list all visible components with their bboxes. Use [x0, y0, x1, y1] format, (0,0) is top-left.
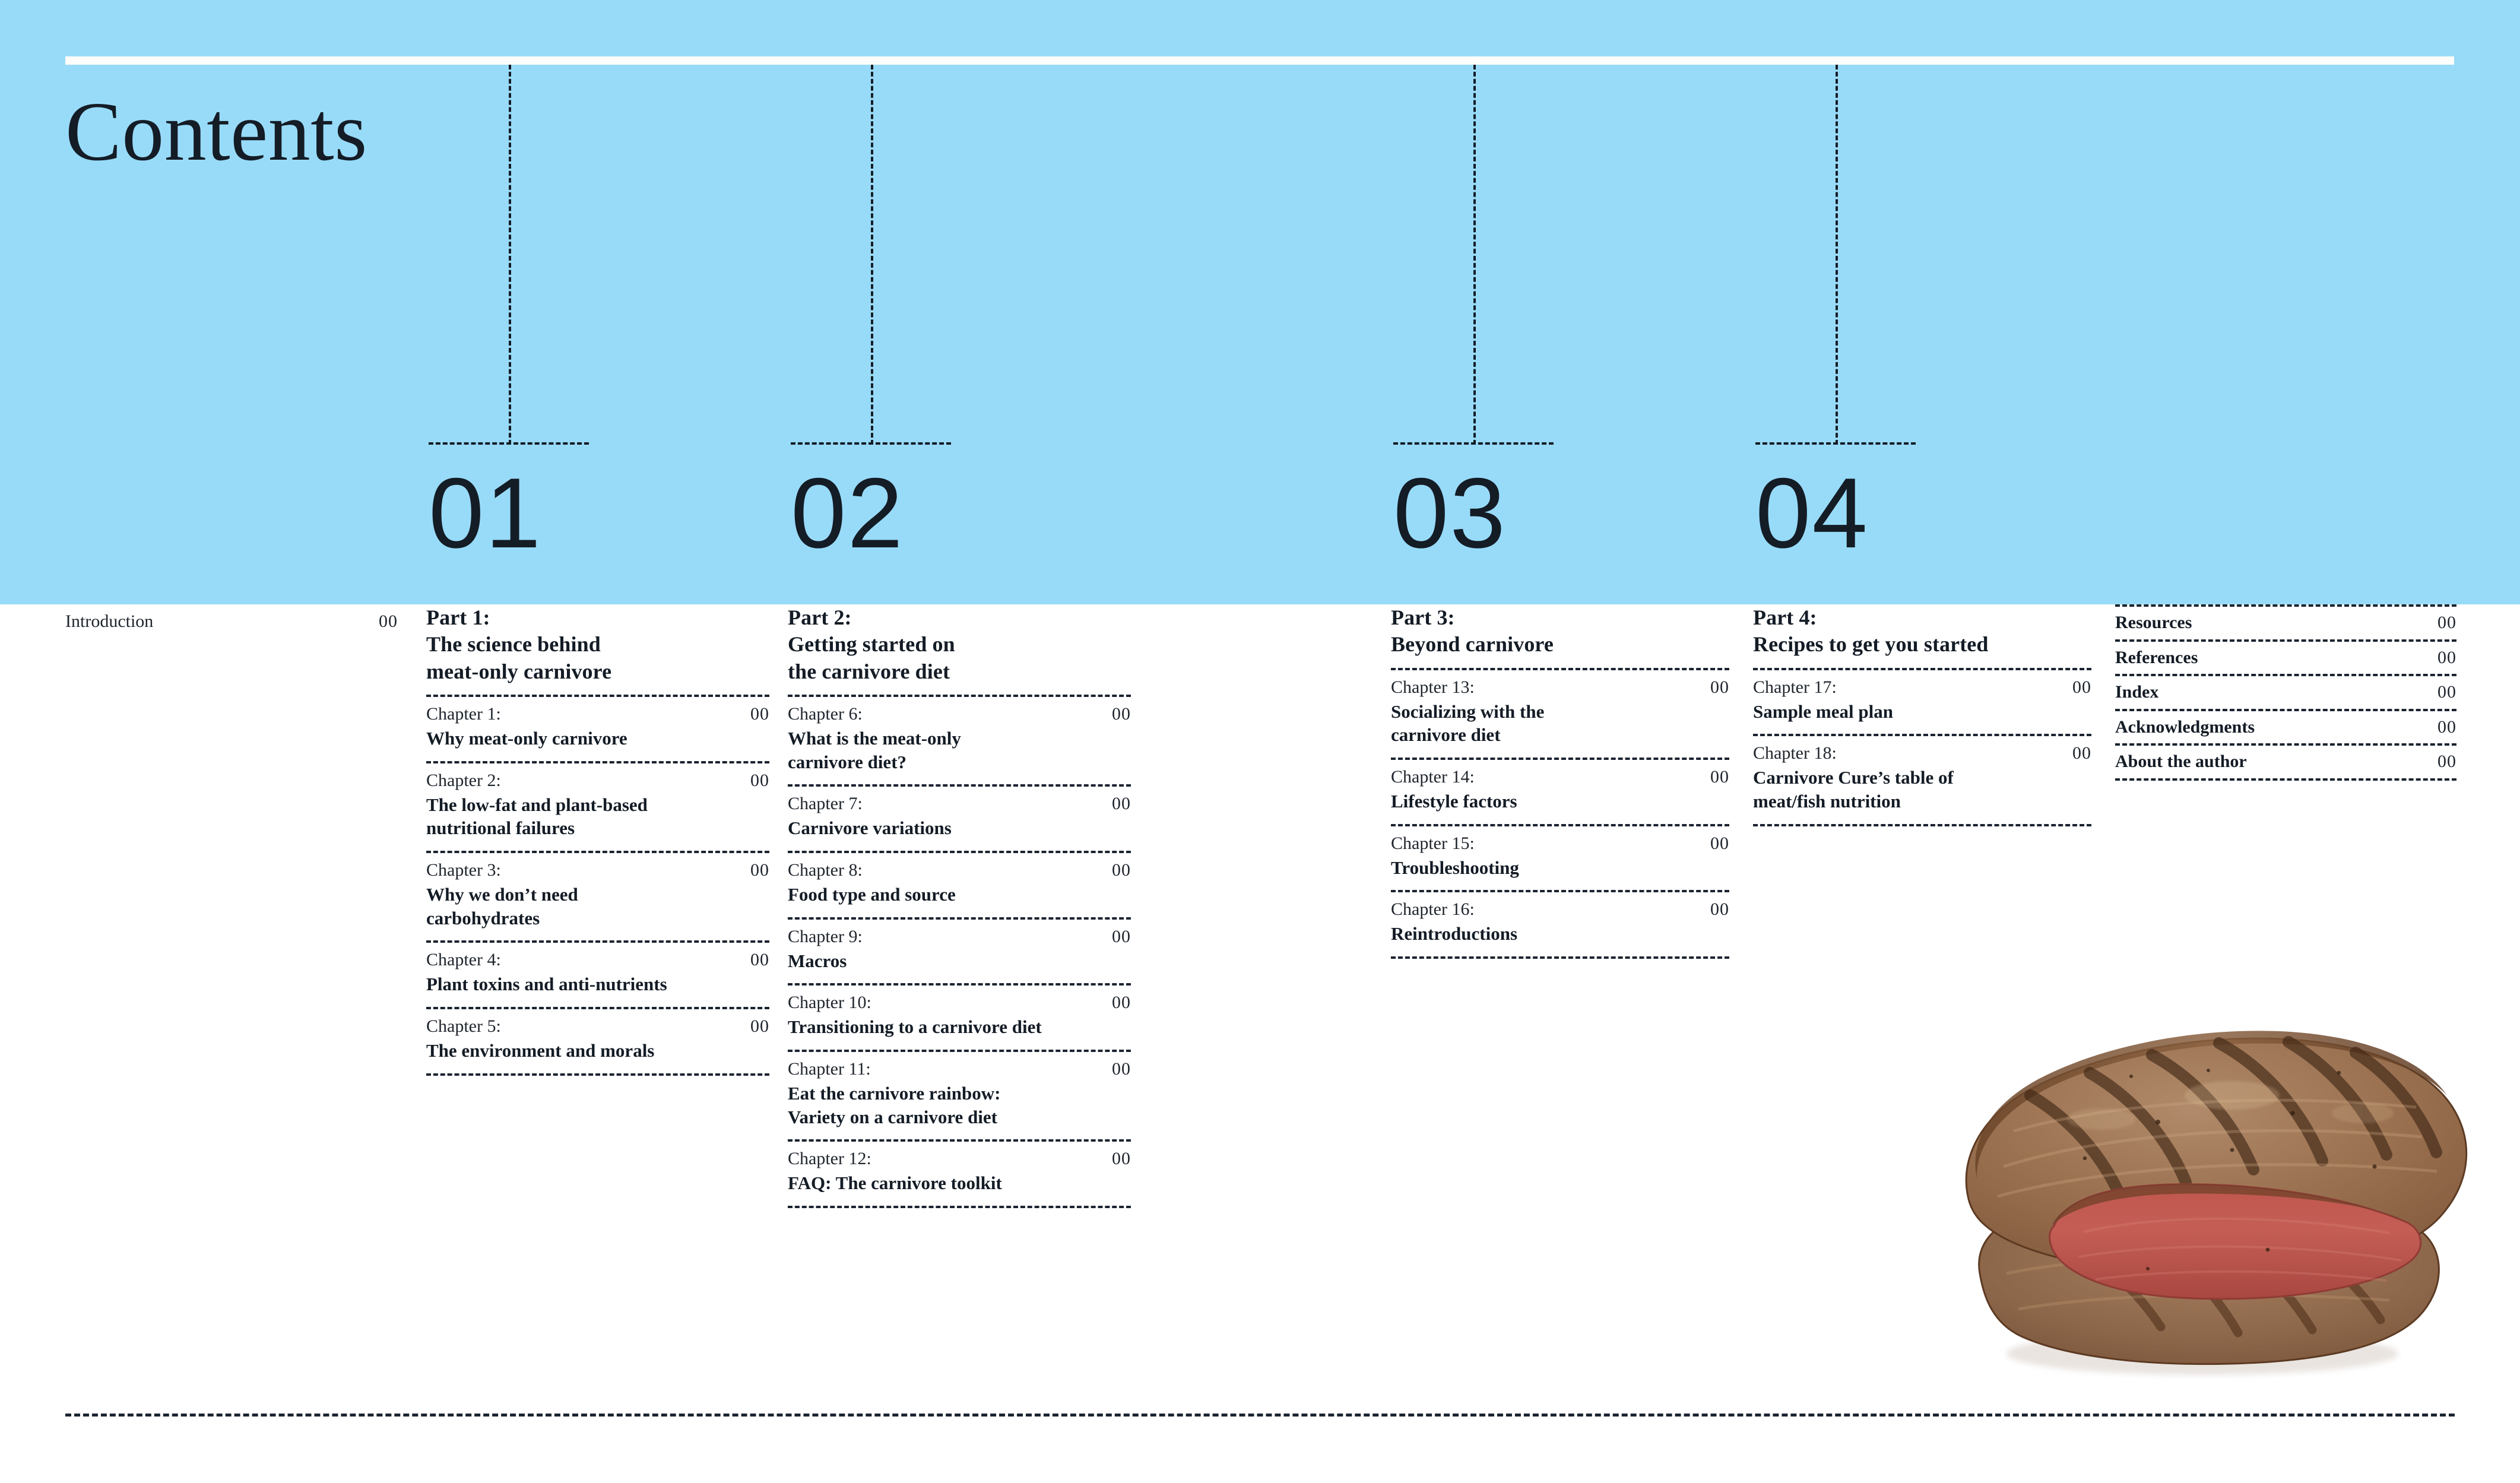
- chapter-page: 00: [1112, 860, 1131, 881]
- part-3-column: Part 3: Beyond carnivore Chapter 13: 00 …: [1391, 604, 1729, 959]
- page-title: Contents: [65, 89, 367, 173]
- toc-entry-chapter-1[interactable]: Chapter 1: 00 Why meat-only carnivore: [426, 697, 769, 761]
- connector-line-02: [871, 65, 873, 445]
- connector-base-01: [429, 442, 589, 445]
- chapter-page: 00: [1710, 833, 1729, 854]
- chapter-label: Chapter 8:: [788, 860, 863, 881]
- back-matter-page: 00: [2437, 717, 2456, 739]
- chapter-page: 00: [1112, 704, 1131, 725]
- chapter-page: 00: [1112, 793, 1131, 815]
- chapter-label: Chapter 4:: [426, 949, 501, 971]
- chapter-label: Chapter 18:: [1753, 743, 1837, 764]
- back-matter-label: About the author: [2115, 751, 2247, 773]
- chapter-label: Chapter 11:: [788, 1059, 871, 1080]
- chapter-page: 00: [1710, 899, 1729, 920]
- part-2-heading: Part 2: Getting started on the carnivore…: [788, 604, 1131, 685]
- part-4-heading: Part 4: Recipes to get you started: [1753, 604, 2091, 658]
- page-bottom-rule: [65, 1414, 2455, 1417]
- toc-entry-chapter-10[interactable]: Chapter 10: 00 Transitioning to a carniv…: [788, 986, 1131, 1050]
- part-2-column: Part 2: Getting started on the carnivore…: [788, 604, 1131, 1208]
- chapter-page: 00: [1710, 677, 1729, 698]
- connector-base-03: [1393, 442, 1554, 445]
- chapter-title: Troubleshooting: [1391, 856, 1729, 880]
- toc-entry-chapter-16[interactable]: Chapter 16: 00 Reintroductions: [1391, 892, 1729, 956]
- chapter-label: Chapter 1:: [426, 704, 501, 725]
- part-1-heading-line-1: Part 1:: [426, 604, 769, 631]
- chapter-title: The environment and morals: [426, 1039, 769, 1063]
- chapter-label: Chapter 13:: [1391, 677, 1475, 698]
- chapter-page: 00: [1112, 992, 1131, 1013]
- chapter-label: Chapter 10:: [788, 992, 871, 1013]
- back-matter-page: 00: [2437, 647, 2456, 669]
- chapter-label: Chapter 7:: [788, 793, 863, 815]
- connector-line-03: [1473, 65, 1476, 445]
- part-number-02: 02: [791, 463, 904, 563]
- chapter-title-line-1: Macros: [788, 949, 1131, 973]
- chapter-page: 00: [1710, 766, 1729, 788]
- toc-entry-chapter-7[interactable]: Chapter 7: 00 Carnivore variations: [788, 787, 1131, 851]
- toc-entry-chapter-14[interactable]: Chapter 14: 00 Lifestyle factors: [1391, 760, 1729, 824]
- chapter-title: FAQ: The carnivore toolkit: [788, 1171, 1131, 1195]
- toc-row-about-the-author[interactable]: About the author 00: [2115, 746, 2456, 778]
- chapter-title: Carnivore Cure’s table of meat/fish nutr…: [1753, 766, 2091, 813]
- chapter-label: Chapter 5:: [426, 1016, 501, 1037]
- part-2-heading-line-1: Part 2:: [788, 604, 1131, 631]
- chapter-title-line-1: Plant toxins and anti-nutrients: [426, 972, 769, 996]
- toc-entry-chapter-17[interactable]: Chapter 17: 00 Sample meal plan: [1753, 670, 2091, 734]
- part-1-heading-line-2: The science behind: [426, 631, 769, 658]
- connector-base-02: [791, 442, 951, 445]
- chapter-label: Chapter 16:: [1391, 899, 1475, 920]
- chapter-title: Macros: [788, 949, 1131, 973]
- part-4-heading-line-1: Part 4:: [1753, 604, 2091, 631]
- chapter-label: Chapter 14:: [1391, 766, 1475, 788]
- chapter-page: 00: [2072, 677, 2091, 698]
- chapter-page: 00: [750, 704, 769, 725]
- divider-rule: [1753, 824, 2091, 826]
- toc-entry-chapter-13[interactable]: Chapter 13: 00 Socializing with the carn…: [1391, 670, 1729, 758]
- connector-line-01: [509, 65, 511, 445]
- toc-entry-chapter-5[interactable]: Chapter 5: 00 The environment and morals: [426, 1009, 769, 1073]
- chapter-title: Eat the carnivore rainbow: Variety on a …: [788, 1082, 1131, 1129]
- chapter-title: Carnivore variations: [788, 816, 1131, 840]
- connector-base-04: [1755, 442, 1916, 445]
- chapter-title: Why we don’t need carbohydrates: [426, 883, 769, 930]
- chapter-title-line-2: Variety on a carnivore diet: [788, 1105, 1131, 1129]
- part-2-heading-line-2: Getting started on: [788, 631, 1131, 658]
- header-banner: Contents 01 02 03 04: [0, 0, 2520, 604]
- back-matter-label: Index: [2115, 682, 2158, 704]
- part-3-heading-line-2: Beyond carnivore: [1391, 631, 1729, 658]
- back-matter-label: Acknowledgments: [2115, 717, 2255, 739]
- toc-row-references[interactable]: References 00: [2115, 642, 2456, 674]
- toc-entry-chapter-3[interactable]: Chapter 3: 00 Why we don’t need carbohyd…: [426, 853, 769, 940]
- part-4-heading-line-2: Recipes to get you started: [1753, 631, 2091, 658]
- toc-entry-chapter-4[interactable]: Chapter 4: 00 Plant toxins and anti-nutr…: [426, 943, 769, 1007]
- chapter-title-line-1: What is the meat-only: [788, 727, 1131, 750]
- chapter-title-line-2: meat/fish nutrition: [1753, 790, 2091, 813]
- chapter-title-line-1: Why we don’t need: [426, 883, 769, 907]
- toc-entry-chapter-12[interactable]: Chapter 12: 00 FAQ: The carnivore toolki…: [788, 1142, 1131, 1206]
- back-matter-page: 00: [2437, 612, 2456, 634]
- chapter-label: Chapter 15:: [1391, 833, 1475, 854]
- toc-entry-chapter-2[interactable]: Chapter 2: 00 The low-fat and plant-base…: [426, 763, 769, 851]
- chapter-title-line-1: Carnivore Cure’s table of: [1753, 766, 2091, 790]
- part-2-heading-line-3: the carnivore diet: [788, 658, 1131, 685]
- divider-rule: [788, 1206, 1131, 1208]
- back-matter-label: Resources: [2115, 612, 2192, 634]
- toc-row-resources[interactable]: Resources 00: [2115, 607, 2456, 639]
- introduction-page: 00: [379, 611, 398, 632]
- chapter-title-line-1: FAQ: The carnivore toolkit: [788, 1171, 1131, 1195]
- toc-entry-chapter-18[interactable]: Chapter 18: 00 Carnivore Cure’s table of…: [1753, 736, 2091, 823]
- chapter-title: Sample meal plan: [1753, 700, 2091, 724]
- back-matter-label: References: [2115, 647, 2198, 669]
- connector-line-04: [1836, 65, 1838, 445]
- chapter-title: Reintroductions: [1391, 922, 1729, 946]
- toc-row-introduction[interactable]: Introduction 00: [65, 604, 398, 632]
- banner-top-rule: [65, 56, 2454, 65]
- divider-rule: [1391, 956, 1729, 959]
- chapter-page: 00: [1112, 1148, 1131, 1170]
- chapter-title-line-2: carnivore diet?: [788, 750, 1131, 774]
- part-1-heading-line-3: meat-only carnivore: [426, 658, 769, 685]
- back-matter-column: Resources 00 References 00 Index 00 Ackn…: [2115, 604, 2456, 781]
- chapter-label: Chapter 12:: [788, 1148, 871, 1170]
- chapter-title-line-1: Why meat-only carnivore: [426, 727, 769, 750]
- chapter-title: The low-fat and plant-based nutritional …: [426, 793, 769, 840]
- chapter-page: 00: [1112, 926, 1131, 948]
- toc-entry-chapter-6[interactable]: Chapter 6: 00 What is the meat-only carn…: [788, 697, 1131, 784]
- chapter-page: 00: [750, 949, 769, 971]
- chapter-title-line-2: carnivore diet: [1391, 723, 1729, 747]
- part-3-heading-line-1: Part 3:: [1391, 604, 1729, 631]
- chapter-page: 00: [1112, 1059, 1131, 1080]
- chapter-label: Chapter 17:: [1753, 677, 1837, 698]
- back-matter-page: 00: [2437, 682, 2456, 704]
- toc-entry-chapter-15[interactable]: Chapter 15: 00 Troubleshooting: [1391, 826, 1729, 891]
- chapter-title: What is the meat-only carnivore diet?: [788, 727, 1131, 774]
- toc-entry-chapter-8[interactable]: Chapter 8: 00 Food type and source: [788, 853, 1131, 917]
- chapter-title-line-1: Reintroductions: [1391, 922, 1729, 946]
- chapter-title-line-1: Food type and source: [788, 883, 1131, 907]
- chapter-title: Plant toxins and anti-nutrients: [426, 972, 769, 996]
- back-matter-page: 00: [2437, 751, 2456, 773]
- toc-row-acknowledgments[interactable]: Acknowledgments 00: [2115, 711, 2456, 744]
- chapter-page: 00: [750, 1016, 769, 1037]
- chapter-label: Chapter 6:: [788, 704, 863, 725]
- divider-rule: [2115, 778, 2456, 781]
- chapter-title-line-1: The low-fat and plant-based: [426, 793, 769, 817]
- chapter-title-line-1: Eat the carnivore rainbow:: [788, 1082, 1131, 1105]
- chapter-title: Lifestyle factors: [1391, 790, 1729, 813]
- toc-row-index[interactable]: Index 00: [2115, 676, 2456, 709]
- part-number-03: 03: [1393, 463, 1507, 563]
- introduction-label: Introduction: [65, 611, 153, 632]
- chapter-title-line-1: Transitioning to a carnivore diet: [788, 1015, 1131, 1039]
- part-4-column: Part 4: Recipes to get you started Chapt…: [1753, 604, 2091, 826]
- chapter-title-line-1: Sample meal plan: [1753, 700, 2091, 724]
- chapter-title: Why meat-only carnivore: [426, 727, 769, 750]
- chapter-title-line-2: nutritional failures: [426, 816, 769, 840]
- part-number-01: 01: [429, 463, 542, 563]
- chapter-page: 00: [750, 860, 769, 881]
- chapter-label: Chapter 2:: [426, 770, 501, 791]
- chapter-title-line-1: Lifestyle factors: [1391, 790, 1729, 813]
- chapter-title: Food type and source: [788, 883, 1131, 907]
- toc-entry-chapter-9[interactable]: Chapter 9: 00 Macros: [788, 920, 1131, 984]
- chapter-page: 00: [2072, 743, 2091, 764]
- chapter-title-line-1: Carnivore variations: [788, 816, 1131, 840]
- chapter-title-line-1: The environment and morals: [426, 1039, 769, 1063]
- divider-rule: [426, 1073, 769, 1076]
- toc-entry-chapter-11[interactable]: Chapter 11: 00 Eat the carnivore rainbow…: [788, 1052, 1131, 1139]
- chapter-title-line-2: carbohydrates: [426, 907, 769, 930]
- part-number-04: 04: [1755, 463, 1869, 563]
- chapter-label: Chapter 3:: [426, 860, 501, 881]
- chapter-title: Transitioning to a carnivore diet: [788, 1015, 1131, 1039]
- chapter-title-line-1: Socializing with the: [1391, 700, 1729, 724]
- part-1-column: Part 1: The science behind meat-only car…: [426, 604, 769, 1076]
- chapter-page: 00: [750, 770, 769, 791]
- chapter-title: Socializing with the carnivore diet: [1391, 700, 1729, 747]
- part-3-heading: Part 3: Beyond carnivore: [1391, 604, 1729, 658]
- chapter-title-line-1: Troubleshooting: [1391, 856, 1729, 880]
- steak-photo: [1852, 917, 2520, 1392]
- part-1-heading: Part 1: The science behind meat-only car…: [426, 604, 769, 685]
- introduction-column: Introduction 00: [65, 604, 398, 632]
- chapter-label: Chapter 9:: [788, 926, 863, 948]
